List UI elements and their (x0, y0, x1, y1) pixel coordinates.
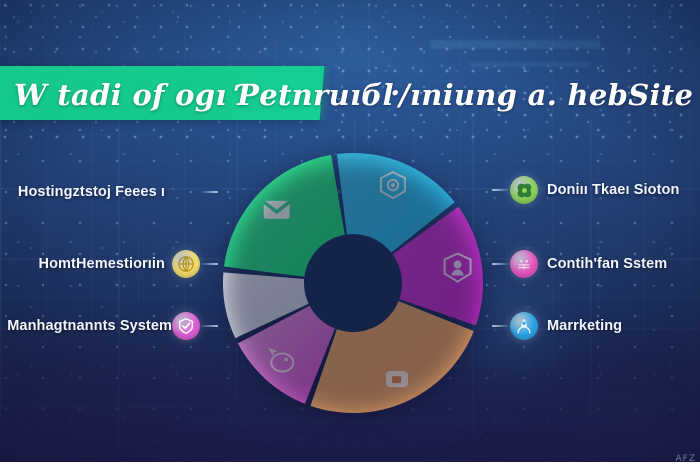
legend-item-left-1[interactable]: HomtHemestiorıin (8, 249, 218, 279)
shield-check-icon[interactable] (172, 312, 200, 340)
clover-icon[interactable] (510, 176, 538, 204)
globe-grid-icon[interactable] (172, 250, 200, 278)
rocket-icon[interactable] (510, 312, 538, 340)
legend-label: HomtHemestiorıin (39, 256, 165, 272)
legend-item-right-2[interactable]: Marrketing (492, 311, 696, 341)
legend-item-right-0[interactable]: Doniıı Tkaeı Sioton (492, 175, 696, 205)
donut-chart (218, 148, 488, 418)
legend-label: Marrketing (547, 318, 622, 334)
legend-connector (200, 191, 218, 193)
legend-item-left-2[interactable]: Manhagtnannts System (8, 311, 218, 341)
legend-label: Contih'fan Sstem (547, 256, 667, 272)
legend-connector (200, 325, 218, 327)
infographic-canvas: W tadi of ogı Ƥetnruıбŀ/ıniung a. hebSit… (0, 0, 700, 470)
legend-item-left-0[interactable]: Hostingztstoj Feees ı (8, 177, 218, 207)
donut-shadow (224, 158, 482, 416)
legend-label: Hostingztstoj Feees ı (18, 184, 165, 200)
legend-label: Doniıı Tkaeı Sioton (547, 182, 679, 198)
legend-connector (492, 189, 510, 191)
legend-item-right-1[interactable]: Contih'fan Sstem (492, 249, 696, 279)
legend-label: Manhagtnannts System (7, 318, 172, 334)
legend-connector (200, 263, 218, 265)
page-title: W tadi of ogı Ƥetnruıбŀ/ıniung a. hebSit… (14, 72, 684, 118)
legend-connector (492, 325, 510, 327)
bottom-strip (0, 462, 700, 470)
face-grid-icon[interactable] (510, 250, 538, 278)
legend-connector (492, 263, 510, 265)
